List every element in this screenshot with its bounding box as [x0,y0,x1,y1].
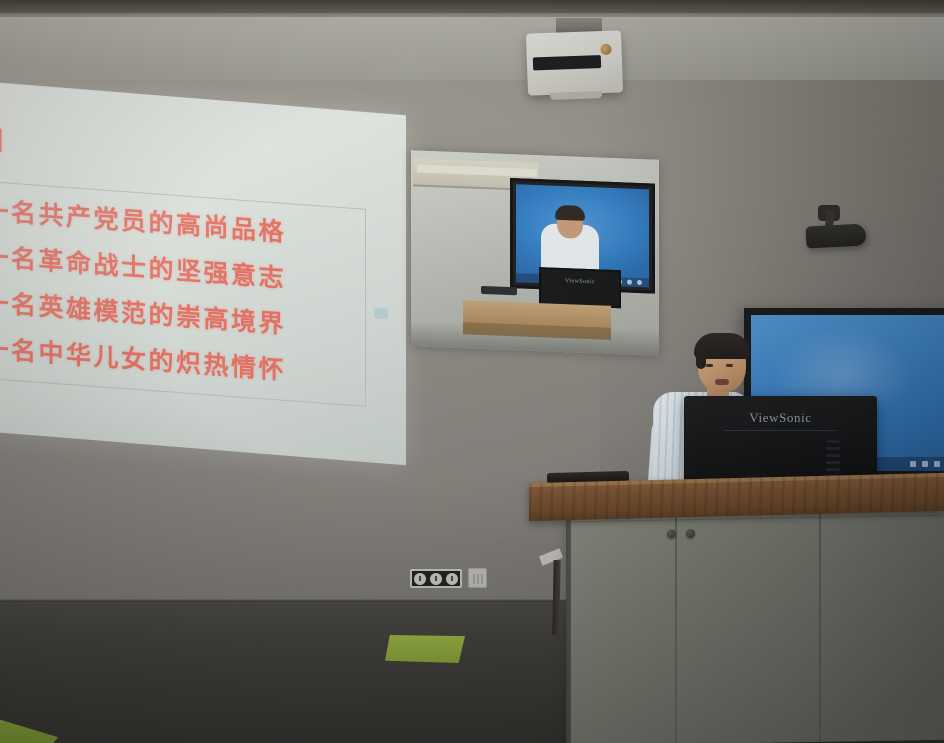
ceiling-edge [0,0,944,18]
lecture-hall-photo: 神 为一名共产党员的高尚品格 为一名革命战士的坚强意志 为一名英雄模范的崇高境界… [0,0,944,743]
podium-cabinet-knob[interactable] [686,529,695,538]
podium-monitor: ViewSonic [684,396,877,482]
projector-vent [533,55,601,70]
slide-cursor-icon [374,307,388,319]
podium-monitor-brand: ViewSonic [684,410,877,426]
projection-screen: 神 为一名共产党员的高尚品格 为一名革命战士的坚强意志 为一名英雄模范的崇高境界… [0,81,406,466]
taskbar-icon [934,461,940,467]
ceiling-projector [526,30,623,95]
power-socket-icon[interactable] [430,573,442,585]
wall-speaker [805,223,866,248]
wall-data-port-plate[interactable] [468,568,487,588]
taskbar-icon [922,461,928,467]
presenter-eye [706,364,713,367]
projection-screen-content: 神 为一名共产党员的高尚品格 为一名革命战士的坚强意志 为一名英雄模范的崇高境界… [0,82,406,464]
presenter-eye [726,364,733,367]
power-socket-icon[interactable] [446,573,458,585]
podium-panel-seam [675,513,677,743]
podium-body: 1896 SICHUAN UNIVERSITY 四川大学 [571,509,944,743]
presenter-hair [694,333,750,359]
feed-monitor-brand: ViewSonic [541,277,619,286]
green-floor-mat [385,635,465,663]
feed-laptop [481,286,517,295]
feed-podium-monitor: ViewSonic [539,267,621,308]
monitor-seam [724,430,837,431]
upper-wall [0,17,944,87]
wall-outlet-plate[interactable] [410,569,462,588]
feed-taskbar-icon [627,280,632,285]
podium-panel-seam [819,511,821,742]
video-feed-inset: ViewSonic [411,150,659,356]
projector-led-indicators [534,47,556,52]
feed-soffit-highlight [417,164,537,177]
projector-lens-icon [600,44,611,55]
power-socket-icon[interactable] [414,573,426,585]
wall-speaker-bracket [825,210,835,227]
feed-taskbar-icon [637,280,642,285]
taskbar-icon [910,461,916,467]
slide-heading: 神 [0,107,6,171]
presenter-mouth [715,379,729,385]
